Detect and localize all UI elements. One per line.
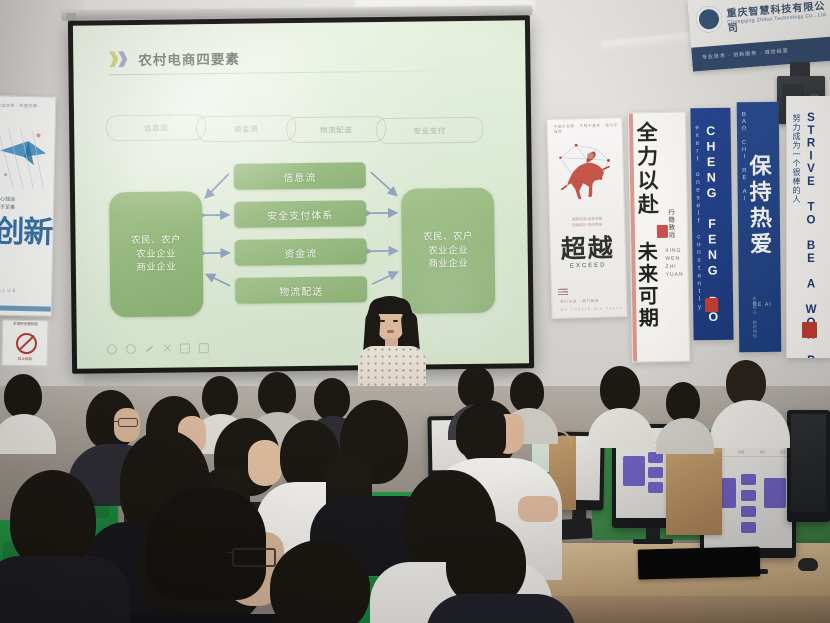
diagram-right-box: 农民、农户 农业企业 商业企业 <box>401 188 496 314</box>
box-label: 信息流 <box>283 168 316 183</box>
student <box>436 520 566 623</box>
banner-bao-chi-re-ai: BAO CHI RE AI 保持热爱 RE AI 永葆初心 始终热忱 <box>737 102 782 352</box>
left-box-line: 农业企业 <box>136 247 176 261</box>
diagram-node <box>741 506 756 517</box>
no-smoking-top-text: 本场所全面禁烟 <box>3 322 47 328</box>
student <box>0 470 130 623</box>
box-label: 安全支付体系 <box>267 206 333 222</box>
tab-label: 安全支付 <box>413 125 446 136</box>
dot-icon[interactable] <box>199 343 209 353</box>
mouse <box>798 558 818 571</box>
banner-pinyin-text: XING WEN ZHI YUAN <box>665 248 683 278</box>
left-box-line: 农民、农户 <box>131 233 181 247</box>
company-sign: 重庆智慧科技有限公司 Chongqing Zhihui Technology C… <box>687 0 830 72</box>
student-head <box>258 372 296 416</box>
presenter-mouth <box>387 330 394 333</box>
box-label: 物流配送 <box>279 282 323 298</box>
title-divider <box>110 70 440 75</box>
student-head <box>10 470 96 570</box>
tab-zijinliu: 资金流 <box>196 115 296 142</box>
diagram-box-secure-payment: 安全支付体系 <box>234 200 366 228</box>
poster-top-line: 不驰于空想 · 不骛于虚声 · 奋斗正当时 <box>554 123 622 135</box>
poster-sub-cn: 匠心独运止于至善 <box>0 196 15 211</box>
no-smoking-sign: 本场所全面禁烟 禁止吸烟 <box>2 320 49 367</box>
banner-cheng-feng-po-lang: CHENG FENG PO LANG exert oneself constan… <box>690 108 733 341</box>
keyboard <box>638 546 761 579</box>
slide-toolbar[interactable] <box>107 343 209 354</box>
poster-horse: 不驰于空想 · 不骛于虚声 · 奋斗正当时 超越自我 追求卓越砥砺前行 再创辉煌… <box>546 117 627 319</box>
circle-icon[interactable] <box>107 344 117 354</box>
circle-icon[interactable] <box>126 344 136 354</box>
projection-screen: 农村电商四要素 信息流 资金流 物流配送 安全支付 <box>68 15 534 374</box>
diagram-node <box>764 478 786 508</box>
slide-title-row: 农村电商四要素 <box>109 48 240 70</box>
poster-mark-icon <box>558 289 568 296</box>
monitor-tab: 管理 <box>738 450 744 454</box>
banner-main-text: 全力以赴 <box>635 121 658 217</box>
student-torso <box>710 400 790 448</box>
seal-stamp-icon <box>705 298 718 312</box>
student <box>660 382 710 442</box>
poster-headline: 创新 <box>0 218 53 246</box>
student-head <box>600 366 640 412</box>
diagram-box-capital-flow: 资金流 <box>235 238 367 266</box>
close-icon[interactable] <box>163 345 171 353</box>
student-torso <box>0 556 130 623</box>
student-torso <box>0 414 56 454</box>
pen-icon[interactable] <box>145 345 153 352</box>
seal-stamp-icon <box>657 225 668 238</box>
banner-english: exert oneself constantly <box>694 124 704 311</box>
banner-strive-wow-person: STRIVE TO BE A WOW PERSON 努力成为一个很棒的人 <box>786 96 830 358</box>
company-slogan: 专业技术 · 创新服务 · 诚信经营 <box>702 47 789 61</box>
tab-label: 资金流 <box>234 123 258 134</box>
student <box>0 374 54 438</box>
poster-sub-cn: 超越自我 追求卓越砥砺前行 再创辉煌 <box>563 216 611 229</box>
classroom-photo: 农村电商四要素 信息流 资金流 物流配送 安全支付 <box>0 0 830 623</box>
diagram-node <box>741 490 756 501</box>
student-head <box>726 360 766 406</box>
right-box-line: 农业企业 <box>428 244 468 258</box>
seal-stamp-icon <box>802 322 817 338</box>
presenter-eye <box>393 320 398 322</box>
right-box-line: 商业企业 <box>428 257 468 271</box>
monitor-tab: 统计 <box>760 450 766 454</box>
student-head <box>4 374 42 418</box>
monitor-tab: 设置 <box>780 450 786 454</box>
banner-pinyin: XING WEN ZHI YUAN <box>665 247 688 279</box>
diagram-box-logistics: 物流配送 <box>235 276 367 304</box>
student <box>592 366 650 436</box>
no-smoking-bottom-text: 禁止吸烟 <box>3 357 47 363</box>
slide-surface: 农村电商四要素 信息流 资金流 物流配送 安全支付 <box>73 20 529 368</box>
poster-top-text: 企业文化 · 价值引领 <box>0 102 37 109</box>
tab-label: 信息流 <box>144 122 168 133</box>
poster-footer-cn: 我们创造 · 我们超越 <box>560 298 599 304</box>
right-box-line: 农民、农户 <box>423 230 473 244</box>
diagram-left-box: 农民、农户 农业企业 商业企业 <box>109 191 204 317</box>
page-title: 农村电商四要素 <box>138 48 240 69</box>
poster-accent-bar <box>0 305 51 311</box>
poster-graphic-icon <box>0 122 53 193</box>
left-box-line: 商业企业 <box>136 261 176 275</box>
tab-wuliupeisong: 物流配送 <box>286 116 386 143</box>
banner-quanli-yifu: 全力以赴 行稳致远 XING WEN ZHI YUAN 未来可期 <box>628 112 690 363</box>
monitor-screen <box>791 414 826 512</box>
running-horse-icon <box>556 138 616 209</box>
diagram-node <box>741 522 756 533</box>
diagram-node <box>648 467 663 478</box>
slide-tab-row: 信息流 资金流 物流配送 安全支付 <box>106 109 488 140</box>
shield-logo-icon <box>695 5 723 33</box>
diagram-node <box>741 474 756 485</box>
monitor-3 <box>787 410 830 522</box>
paper-bag <box>666 445 722 535</box>
banner-main-text: 保持热爱 <box>747 154 770 258</box>
student-head <box>270 540 370 623</box>
tab-anquanzhifu: 安全支付 <box>376 117 483 144</box>
box-label: 资金流 <box>284 244 317 259</box>
student-hair <box>456 404 506 458</box>
no-smoking-icon <box>16 333 37 354</box>
monitor-base <box>633 539 673 544</box>
frame-icon[interactable] <box>180 343 190 353</box>
diagram-node <box>623 456 645 486</box>
presenter-eye <box>380 320 385 322</box>
tab-label: 物流配送 <box>320 124 353 135</box>
student <box>250 540 400 623</box>
student-hair <box>146 488 266 600</box>
double-chevron-icon <box>109 51 131 67</box>
student <box>716 360 782 440</box>
slide-diagram: 农民、农户 农业企业 商业企业 农民、农户 农业企业 商业企业 信息流 安全支付… <box>101 161 503 346</box>
poster-headline-en: EXCEED <box>551 262 625 270</box>
poster-left-blue: 企业文化 · 价值引领 匠心独运止于至善 创新 VALUE <box>0 95 56 316</box>
diagram-node <box>648 482 663 493</box>
poster-headline-cn: 超越 <box>551 236 626 263</box>
banner-chinese: 努力成为一个很棒的人 <box>791 114 802 204</box>
banner-small-text: 永葆初心 始终热忱 <box>751 296 758 338</box>
student-head <box>666 382 700 422</box>
banner-main-text-2: 未来可期 <box>635 241 657 329</box>
tab-xinxiliu: 信息流 <box>106 114 206 141</box>
poster-footer-en: WE CREATE BIG VALUE <box>560 306 623 312</box>
diagram-box-information-flow: 信息流 <box>234 162 366 190</box>
student-torso <box>656 418 714 454</box>
student-torso <box>588 408 654 448</box>
poster-footer-en: VALUE <box>0 287 18 293</box>
student-torso <box>426 594 576 623</box>
